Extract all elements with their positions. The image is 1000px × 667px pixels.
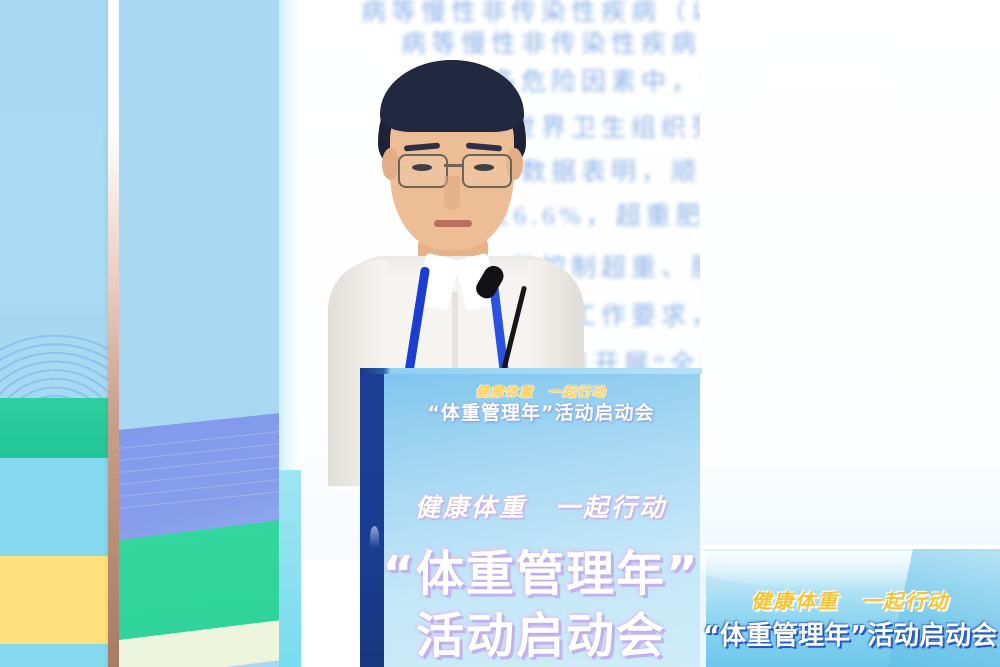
banner-gold-text: 健康体重 一起行动 — [700, 585, 1000, 614]
banner-top-separator — [700, 545, 1000, 549]
podium-top-edge — [360, 368, 702, 374]
speaker-mouth — [434, 220, 472, 227]
wall-below-screen — [700, 0, 1000, 545]
backdrop-band-cyan-3 — [279, 470, 301, 667]
backdrop-band-cyan — [0, 458, 108, 556]
banner-white-text: “体重管理年”活动启动会 — [700, 615, 1000, 652]
podium-highlight-glint — [370, 526, 379, 548]
stage-backdrop-banner: 健康体重 一起行动 “体重管理年”活动启动会 — [700, 545, 1000, 667]
speaker-ear-left — [382, 148, 399, 180]
backdrop-band-yellow — [0, 556, 108, 644]
speaker-hair-top — [380, 60, 524, 132]
podium: 健康体重 一起行动 “体重管理年”活动启动会 健康体重 一起行动 “体重管理年”… — [360, 368, 700, 667]
glasses-lens-right — [462, 154, 512, 188]
glasses-bridge — [444, 164, 462, 167]
backdrop-panel-seam — [108, 0, 119, 667]
podium-front-panel: 健康体重 一起行动 “体重管理年”活动启动会 健康体重 一起行动 “体重管理年”… — [382, 368, 700, 667]
photo-scene: 病等慢性非传染性疾病（以下简称慢病）患病 病等慢性非传染性疾病（以下简称慢病）患… — [0, 0, 1000, 667]
backdrop-band-cyan-2 — [0, 644, 108, 667]
speaker-nose — [444, 176, 460, 210]
glasses-lens-left — [398, 154, 448, 188]
podium-headline-line-1: “体重管理年” — [382, 534, 700, 604]
backdrop-panel-left — [0, 0, 108, 667]
backdrop-panel-edge — [279, 0, 301, 667]
backdrop-band-green — [0, 398, 108, 458]
speaker-person — [300, 60, 620, 420]
podium-plaque-white-text: “体重管理年”活动启动会 — [382, 398, 700, 425]
backdrop-panel-middle — [119, 0, 279, 667]
podium-slogan-line: 健康体重 一起行动 — [382, 488, 700, 524]
podium-side-panel — [360, 368, 384, 667]
podium-headline-line-2: 活动启动会 — [382, 596, 700, 666]
